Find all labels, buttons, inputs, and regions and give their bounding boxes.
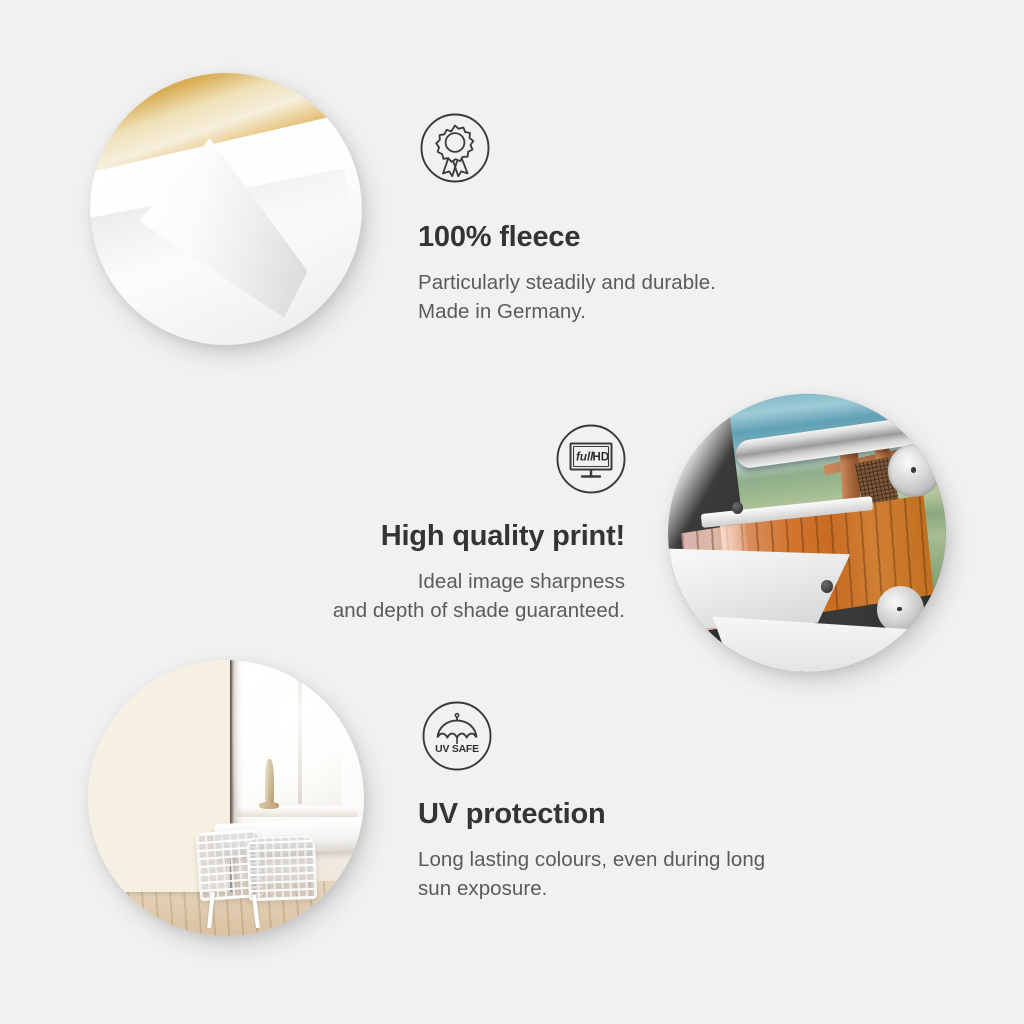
infographic-canvas: 100% fleece Particularly steadily and du…: [0, 0, 1024, 1024]
feature-body-line-1: Particularly steadily and durable.: [418, 268, 838, 297]
feature-body-line-1: Long lasting colours, even during long: [418, 845, 858, 874]
feature-body-line-2: sun exposure.: [418, 874, 858, 903]
printer-knob-lower: [821, 580, 834, 593]
window: [248, 671, 342, 815]
feature-heading: UV protection: [418, 799, 858, 831]
feature-text-print: High quality print! Ideal image sharpnes…: [205, 521, 625, 625]
feature-body-line-1: Ideal image sharpness: [205, 567, 625, 596]
monitor-label-hd: HD: [592, 451, 609, 464]
roller-end-cap-bottom: [877, 586, 924, 633]
peeling-wallpaper-photo: [90, 73, 362, 345]
feature-heading: 100% fleece: [418, 222, 838, 254]
feature-body-line-2: and depth of shade guaranteed.: [205, 596, 625, 625]
large-format-printer-photo: [668, 394, 946, 672]
window-frame: [298, 677, 302, 804]
uv-safe-umbrella-icon: UV SAFE: [421, 700, 493, 772]
wire-mesh-chair-right: [247, 835, 317, 900]
photo-inner: [88, 660, 364, 936]
award-rosette-icon: [419, 112, 491, 184]
printer-knob-upper: [732, 502, 743, 513]
feature-text-uv: UV protection Long lasting colours, even…: [418, 799, 858, 903]
roller-end-cap-right: [888, 444, 941, 497]
uv-safe-label: UV SAFE: [435, 744, 479, 755]
photo-inner: [668, 394, 946, 672]
paisley-wallpaper-interior-photo: [88, 660, 364, 936]
feature-text-fleece: 100% fleece Particularly steadily and du…: [418, 222, 838, 326]
fullhd-monitor-icon: full HD: [555, 423, 627, 495]
photo-inner: [90, 73, 362, 345]
window-sill: [237, 806, 358, 817]
feature-body-line-2: Made in Germany.: [418, 297, 838, 326]
candlestick: [265, 759, 274, 809]
feature-heading: High quality print!: [205, 521, 625, 553]
